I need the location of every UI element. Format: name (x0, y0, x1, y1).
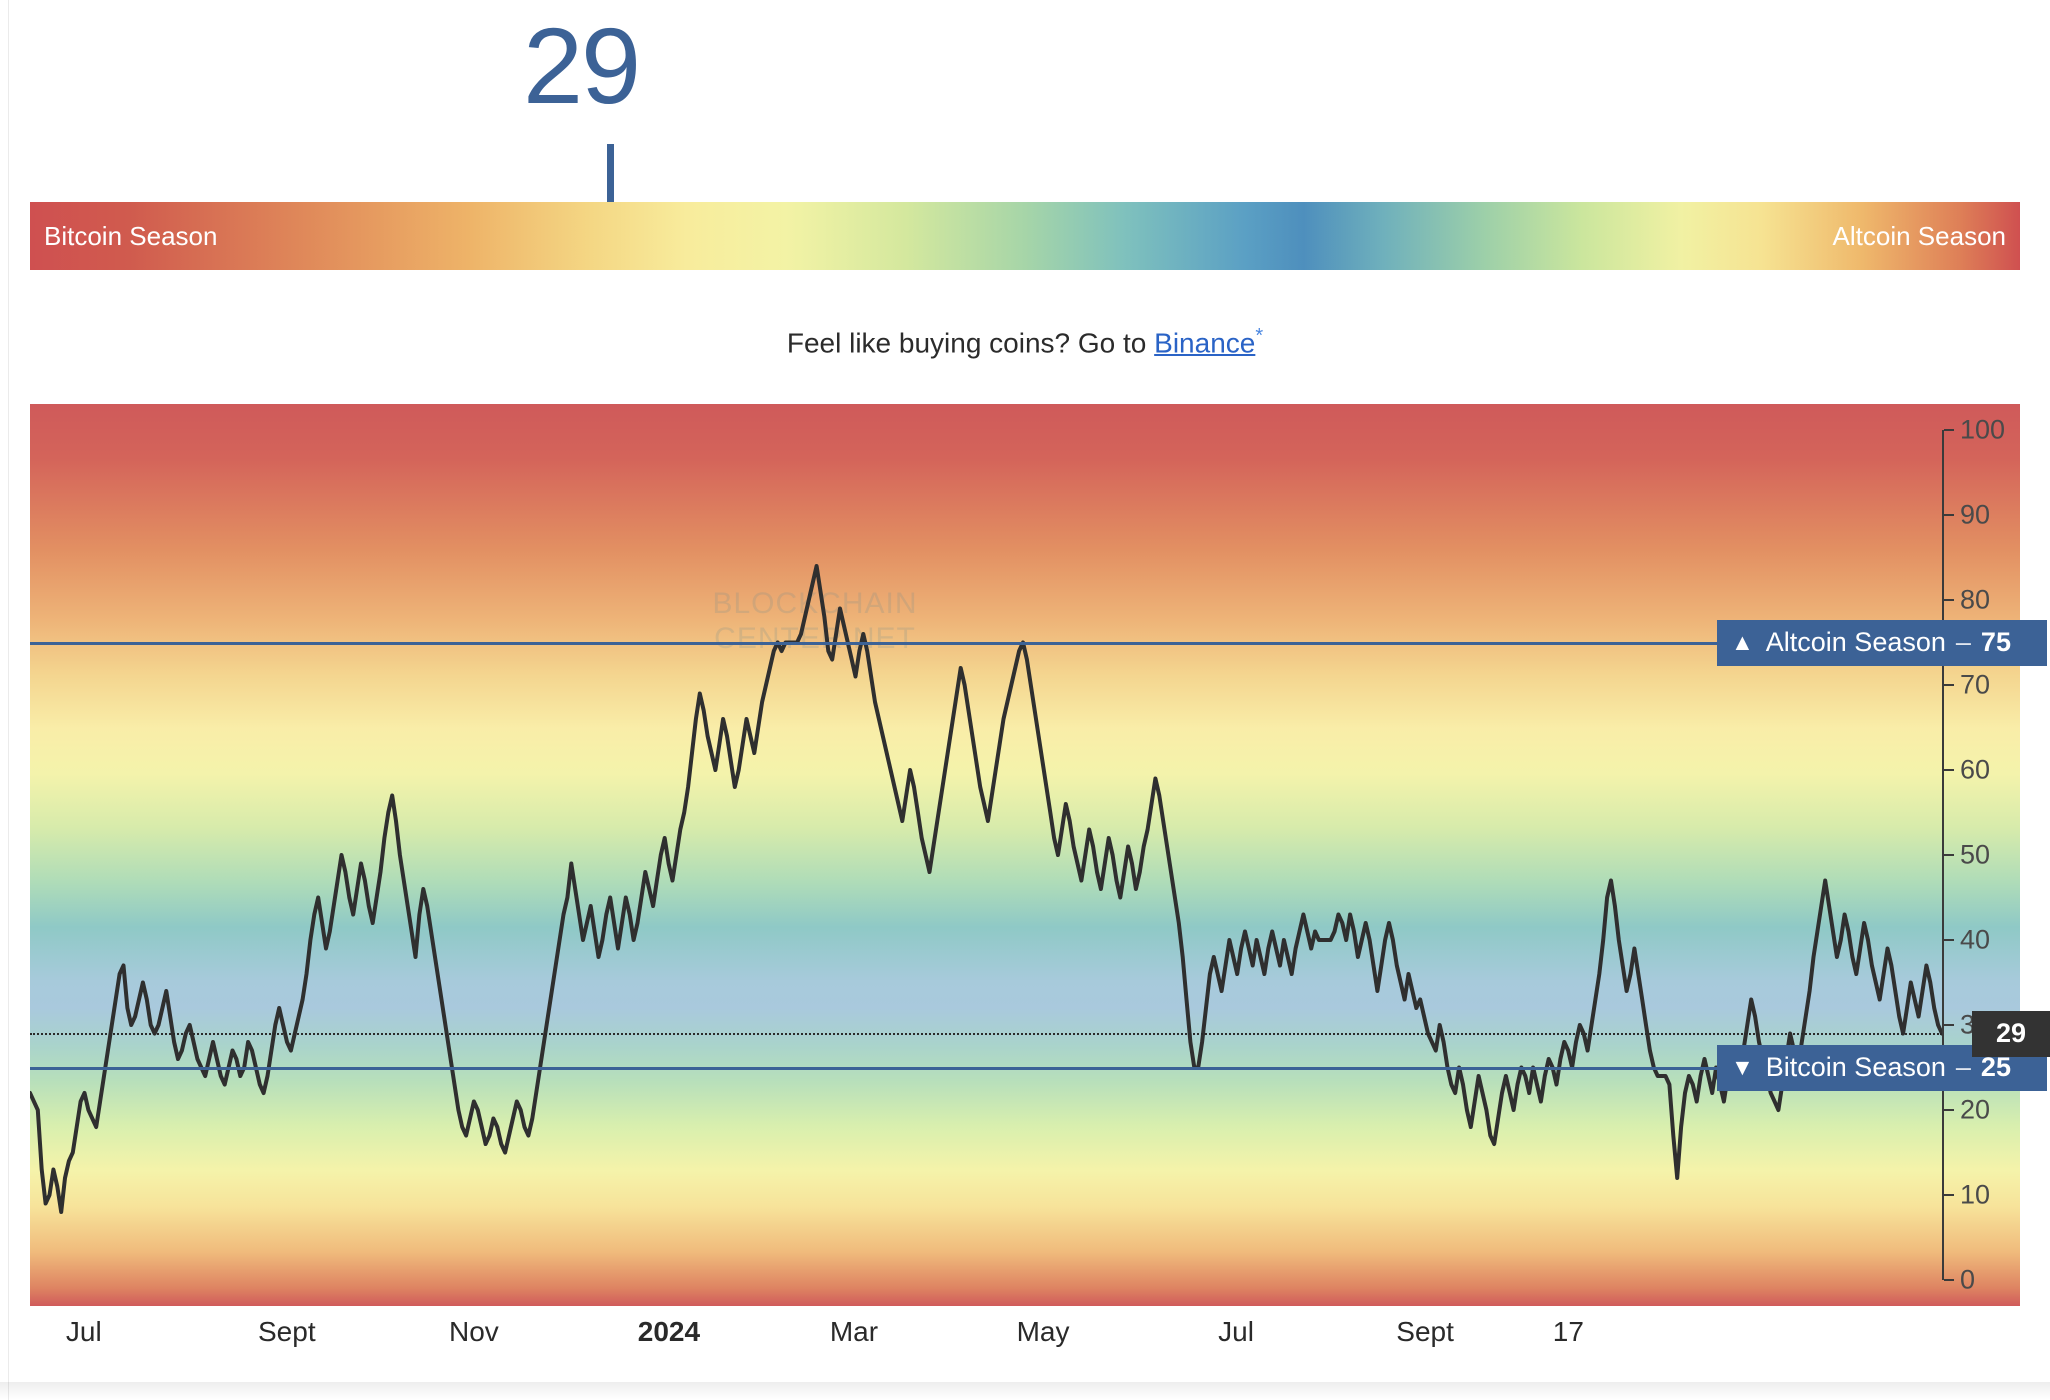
binance-link[interactable]: Binance (1154, 327, 1255, 358)
triangle-up-icon: ▲ (1731, 631, 1754, 654)
bitcoin-threshold-line (30, 1067, 1942, 1070)
altcoin-badge-dash: – (1956, 627, 1971, 658)
y-tick-0 (1944, 1279, 1954, 1281)
bitcoin-badge-dash: – (1956, 1052, 1971, 1083)
y-tick-label-40: 40 (1960, 925, 1990, 956)
y-tick-label-50: 50 (1960, 840, 1990, 871)
y-tick-label-60: 60 (1960, 755, 1990, 786)
y-tick-30 (1944, 1024, 1954, 1026)
y-tick-100 (1944, 429, 1954, 431)
index-value: 29 (0, 12, 639, 120)
y-tick-60 (1944, 769, 1954, 771)
x-tick-label-sept: Sept (1396, 1316, 1454, 1348)
y-tick-40 (1944, 939, 1954, 941)
bottom-fade (0, 1382, 2050, 1400)
x-tick-label-may: May (1017, 1316, 1070, 1348)
y-tick-label-20: 20 (1960, 1095, 1990, 1126)
bitcoin-season-badge-label: Bitcoin Season (1766, 1052, 1946, 1083)
y-tick-label-100: 100 (1960, 415, 2005, 446)
y-tick-50 (1944, 854, 1954, 856)
season-gradient-bar: Bitcoin Season Altcoin Season (30, 202, 2020, 270)
x-tick-label-jul: Jul (66, 1316, 102, 1348)
index-line-series (30, 404, 1942, 1306)
bitcoin-season-badge-value: 25 (1981, 1052, 2011, 1083)
y-tick-80 (1944, 599, 1954, 601)
y-tick-20 (1944, 1109, 1954, 1111)
y-tick-90 (1944, 514, 1954, 516)
triangle-down-icon: ▼ (1731, 1056, 1754, 1079)
current-value-line (30, 1033, 1942, 1035)
y-tick-label-0: 0 (1960, 1265, 1975, 1296)
current-value-badge[interactable]: 29 (1972, 1011, 2050, 1057)
y-tick-10 (1944, 1194, 1954, 1196)
chart-plot-area[interactable]: BLOCKCHAIN CENTER.NET (30, 404, 1942, 1306)
bitcoin-season-bar-label: Bitcoin Season (44, 202, 217, 270)
promo-text: Feel like buying coins? Go to (787, 327, 1154, 358)
y-tick-label-80: 80 (1960, 585, 1990, 616)
x-tick-label-2024: 2024 (638, 1316, 700, 1348)
season-indicator-section: 29 Bitcoin Season Altcoin Season (0, 0, 2050, 272)
current-value-badge-value: 29 (1996, 1018, 2026, 1049)
promo-line: Feel like buying coins? Go to Binance* (0, 325, 2050, 359)
x-tick-label-mar: Mar (830, 1316, 878, 1348)
y-tick-label-90: 90 (1960, 500, 1990, 531)
promo-asterisk: * (1255, 325, 1263, 347)
x-tick-label-17: 17 (1553, 1316, 1584, 1348)
altcoin-threshold-line (30, 642, 1942, 645)
x-axis-labels: JulSeptNov2024MarMayJulSept17 (30, 1316, 2020, 1376)
x-tick-label-sept: Sept (258, 1316, 316, 1348)
y-axis-region: 0102030405060708090100 (1942, 404, 2020, 1306)
y-tick-label-70: 70 (1960, 670, 1990, 701)
altcoin-season-badge-label: Altcoin Season (1766, 627, 1946, 658)
x-tick-label-nov: Nov (449, 1316, 499, 1348)
x-tick-label-jul: Jul (1218, 1316, 1254, 1348)
altcoin-season-badge-value: 75 (1981, 627, 2011, 658)
y-tick-70 (1944, 684, 1954, 686)
altcoin-season-chart[interactable]: BLOCKCHAIN CENTER.NET 010203040506070809… (30, 404, 2020, 1306)
y-tick-label-10: 10 (1960, 1180, 1990, 1211)
altcoin-season-badge[interactable]: ▲ Altcoin Season – 75 (1717, 620, 2047, 666)
altcoin-season-bar-label: Altcoin Season (1833, 202, 2006, 270)
index-marker-tick (607, 144, 614, 208)
